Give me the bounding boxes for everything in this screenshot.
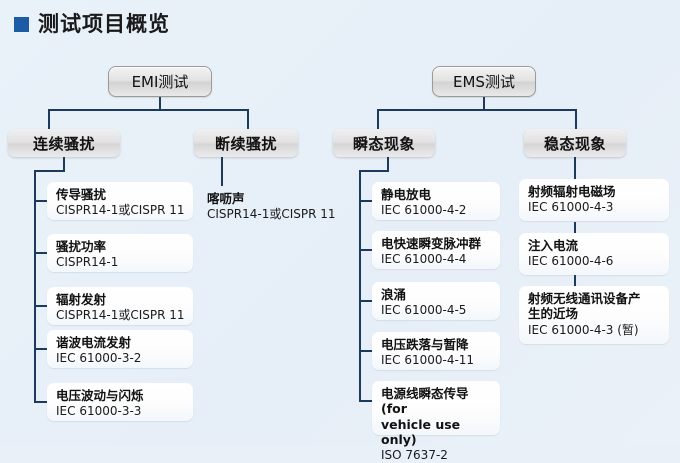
- leaf-standard: ISO 7637-2: [381, 448, 495, 463]
- leaf-title: 骚扰功率: [56, 239, 188, 254]
- leaf-standard: IEC 61000-4-11: [381, 353, 495, 368]
- page-title: 测试项目概览: [14, 14, 170, 35]
- leaf-standard: IEC 61000-4-2: [381, 203, 495, 218]
- category-node-discontinuous-label: 断续骚扰: [215, 133, 277, 154]
- leaf-node[interactable]: 骚扰功率 CISPR14-1: [47, 234, 193, 272]
- root-node-ems[interactable]: EMS测试: [432, 66, 536, 97]
- leaf-node[interactable]: 注入电流 IEC 61000-4-6: [519, 233, 669, 275]
- leaf-title: 喀呖声: [207, 191, 343, 206]
- connector-emi-right: [247, 109, 249, 129]
- leaf-standard: IEC 61000-4-3: [528, 200, 664, 215]
- leaf-node[interactable]: 静电放电 IEC 61000-4-2: [372, 182, 500, 220]
- leaf-standard: CISPR14-1: [56, 255, 188, 270]
- leaf-standard: CISPR14-1或CISPR 11: [56, 203, 188, 218]
- category-node-transient-label: 瞬态现象: [353, 133, 415, 154]
- leaf-standard: IEC 61000-4-6: [528, 254, 664, 269]
- leaf-title: 射频无线通讯设备产 生的近场: [528, 291, 664, 322]
- leaf-node[interactable]: 电源线瞬态传导 (for vehicle use only) ISO 7637-…: [372, 381, 500, 435]
- diagram-canvas: 测试项目概览 EMI测试 EMS测试 连续骚扰 断续骚扰 瞬态现象 稳态现象 传…: [0, 0, 680, 445]
- leaf-title: 注入电流: [528, 238, 664, 253]
- leaf-title: 电源线瞬态传导 (for vehicle use only): [381, 386, 495, 447]
- leaf-title: 传导骚扰: [56, 187, 188, 202]
- leaf-standard: CISPR14-1或CISPR 11: [56, 308, 188, 323]
- root-node-emi-label: EMI测试: [132, 71, 189, 92]
- leaf-node[interactable]: 射频辐射电磁场 IEC 61000-4-3: [519, 179, 669, 221]
- leaf-title: 浪涌: [381, 287, 495, 302]
- connector-c4-stem: [574, 157, 576, 179]
- connector-c3-elbow: [359, 170, 389, 172]
- category-node-continuous[interactable]: 连续骚扰: [8, 129, 120, 157]
- leaf-node[interactable]: 电快速瞬变脉冲群 IEC 61000-4-4: [372, 231, 500, 269]
- leaf-title: 静电放电: [381, 187, 495, 202]
- leaf-node[interactable]: 射频无线通讯设备产 生的近场 IEC 61000-4-3 (暂): [519, 286, 669, 344]
- connector-c1-spine: [34, 170, 36, 403]
- leaf-node[interactable]: 传导骚扰 CISPR14-1或CISPR 11: [47, 182, 193, 220]
- connector-emi-left: [48, 109, 50, 129]
- leaf-standard: IEC 61000-4-4: [381, 252, 495, 267]
- page-title-text: 测试项目概览: [38, 14, 170, 35]
- leaf-standard: IEC 61000-3-3: [56, 404, 188, 419]
- leaf-title: 电快速瞬变脉冲群: [381, 236, 495, 251]
- category-node-steady-label: 稳态现象: [544, 133, 606, 154]
- category-node-steady[interactable]: 稳态现象: [524, 129, 626, 157]
- leaf-node[interactable]: 喀呖声 CISPR14-1或CISPR 11: [198, 186, 348, 224]
- connector-ems-right: [575, 109, 577, 129]
- category-node-continuous-label: 连续骚扰: [33, 133, 95, 154]
- connector-c4-join-2: [574, 275, 576, 286]
- connector-c3-spine: [359, 170, 361, 402]
- connector-c2-stem: [221, 157, 223, 186]
- root-node-emi[interactable]: EMI测试: [108, 66, 212, 97]
- leaf-title: 电压波动与闪烁: [56, 388, 188, 403]
- connector-ems-left: [377, 109, 379, 129]
- leaf-standard: CISPR14-1或CISPR 11: [207, 207, 343, 222]
- leaf-title: 谐波电流发射: [56, 335, 188, 350]
- root-node-ems-label: EMS测试: [453, 71, 515, 92]
- connector-c4-join-1: [574, 222, 576, 233]
- leaf-node[interactable]: 浪涌 IEC 61000-4-5: [372, 282, 500, 320]
- leaf-node[interactable]: 辐射发射 CISPR14-1或CISPR 11: [47, 287, 193, 325]
- leaf-node[interactable]: 电压跌落与暂降 IEC 61000-4-11: [372, 332, 500, 370]
- leaf-standard: IEC 61000-4-5: [381, 303, 495, 318]
- category-node-transient[interactable]: 瞬态现象: [333, 129, 435, 157]
- leaf-standard: IEC 61000-4-3 (暂): [528, 323, 664, 338]
- bullet-square-icon: [14, 17, 29, 32]
- leaf-title: 辐射发射: [56, 292, 188, 307]
- leaf-title: 电压跌落与暂降: [381, 337, 495, 352]
- leaf-standard: IEC 61000-3-2: [56, 351, 188, 366]
- connector-c1-elbow: [34, 170, 65, 172]
- connector-ems-bar: [377, 109, 577, 111]
- connector-emi-bar: [48, 109, 249, 111]
- category-node-discontinuous[interactable]: 断续骚扰: [194, 129, 298, 157]
- leaf-title: 射频辐射电磁场: [528, 184, 664, 199]
- leaf-node[interactable]: 谐波电流发射 IEC 61000-3-2: [47, 330, 193, 368]
- leaf-node[interactable]: 电压波动与闪烁 IEC 61000-3-3: [47, 383, 193, 421]
